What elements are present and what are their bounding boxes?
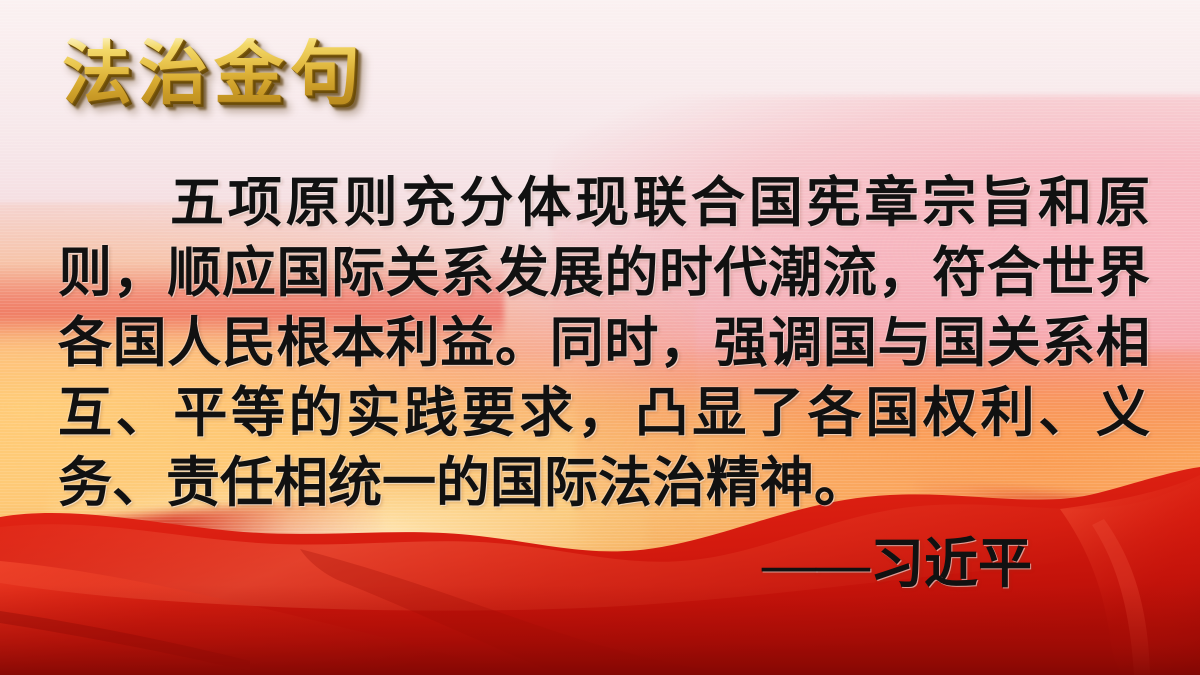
silk-bottom-shadow (0, 585, 1200, 675)
quote-body: 五项原则充分体现联合国宪章宗旨和原则，顺应国际关系发展的时代潮流，符合世界各国人… (58, 168, 1150, 518)
quote-text: 五项原则充分体现联合国宪章宗旨和原则，顺应国际关系发展的时代潮流，符合世界各国人… (58, 173, 1150, 513)
quote-attribution: ——习近平 (762, 534, 1032, 594)
slide-canvas: 法治金句 五项原则充分体现联合国宪章宗旨和原则，顺应国际关系发展的时代潮流，符合… (0, 0, 1200, 675)
page-title: 法治金句 (62, 38, 366, 108)
